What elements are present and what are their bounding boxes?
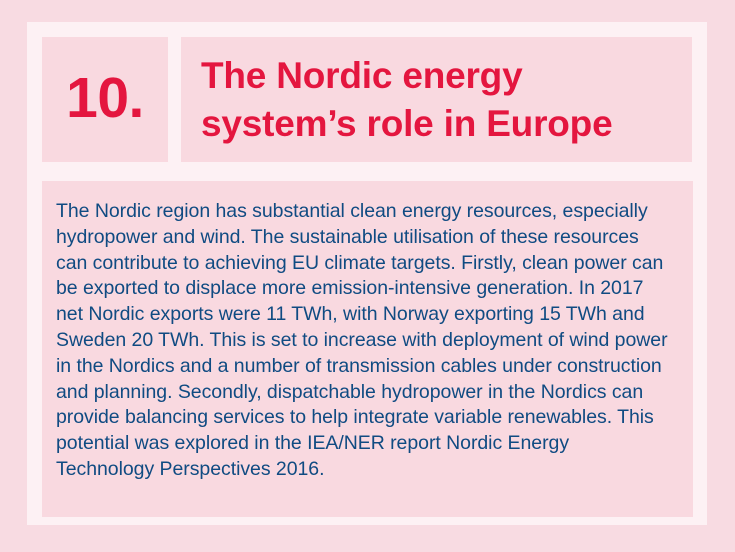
callout-card: 10. The Nordic energy system’s role in E… — [27, 22, 707, 525]
callout-header: 10. The Nordic energy system’s role in E… — [42, 37, 692, 162]
callout-body-text: The Nordic region has substantial clean … — [56, 199, 671, 483]
callout-title-box: The Nordic energy system’s role in Europ… — [181, 37, 692, 162]
callout-title: The Nordic energy system’s role in Europ… — [201, 52, 671, 148]
callout-number-box: 10. — [42, 37, 168, 162]
callout-body-panel: The Nordic region has substantial clean … — [42, 181, 693, 517]
callout-number: 10. — [66, 70, 144, 129]
callout-container: 10. The Nordic energy system’s role in E… — [0, 0, 735, 552]
